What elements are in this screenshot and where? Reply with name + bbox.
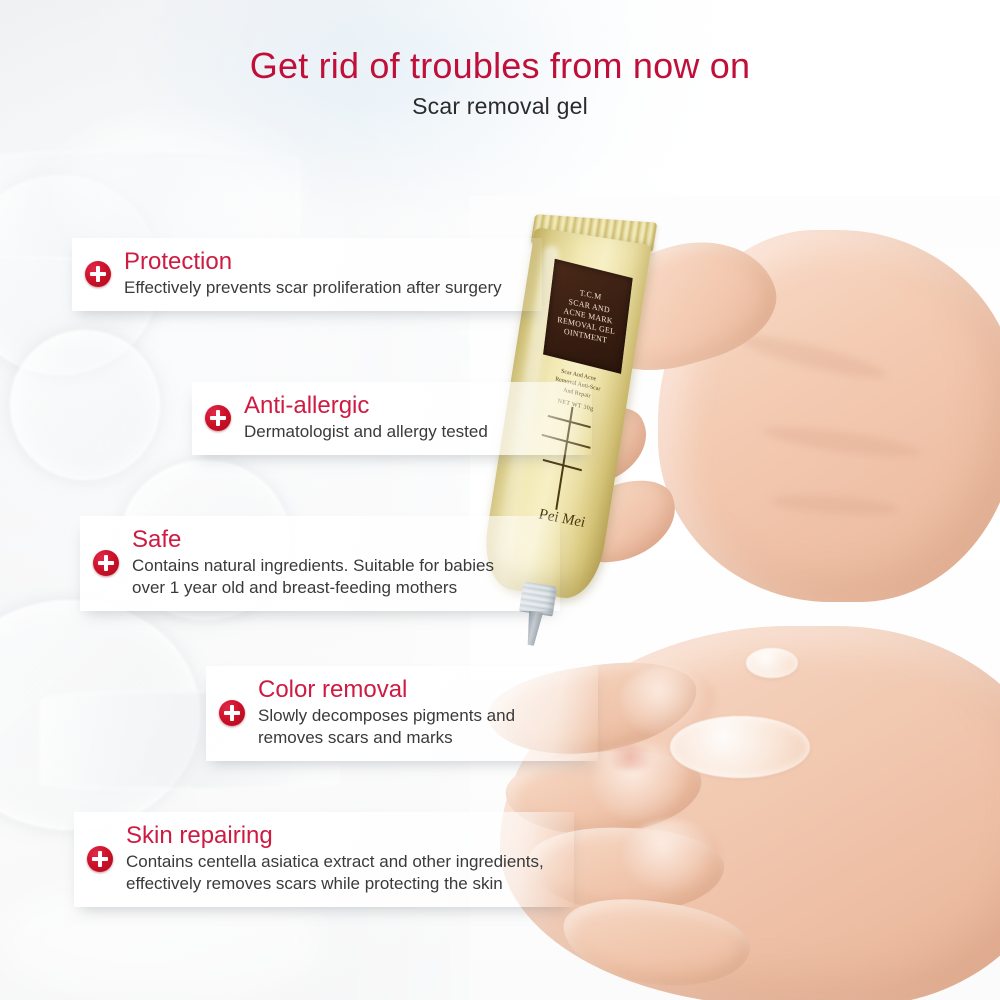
scar-mark-on-skin bbox=[602, 744, 658, 770]
red-plus-icon bbox=[93, 550, 119, 576]
page-headline: Get rid of troubles from now on bbox=[0, 46, 1000, 86]
red-plus-icon bbox=[87, 846, 113, 872]
feature-text: Color removal Slowly decomposes pigments… bbox=[258, 676, 598, 749]
feature-title: Skin repairing bbox=[126, 822, 564, 850]
feature-description: Dermatologist and allergy tested bbox=[244, 421, 582, 443]
feature-title: Color removal bbox=[258, 676, 588, 704]
feature-description: Contains centella asiatica extract and o… bbox=[126, 851, 564, 896]
feature-text: Protection Effectively prevents scar pro… bbox=[124, 248, 542, 299]
tube-front-label: T.C.M SCAR AND ACNE MARK REMOVAL GEL OIN… bbox=[543, 259, 633, 374]
feature-card-anti-allergic: Anti-allergic Dermatologist and allergy … bbox=[192, 382, 592, 455]
page-subheadline: Scar removal gel bbox=[0, 93, 1000, 120]
feature-title: Protection bbox=[124, 248, 532, 276]
red-plus-icon bbox=[219, 700, 245, 726]
feature-description: Contains natural ingredients. Suitable f… bbox=[132, 555, 550, 600]
red-plus-icon bbox=[85, 261, 111, 287]
feature-description: Slowly decomposes pigments and removes s… bbox=[258, 705, 588, 750]
feature-text: Safe Contains natural ingredients. Suita… bbox=[132, 526, 560, 599]
red-plus-icon bbox=[205, 405, 231, 431]
feature-text: Skin repairing Contains centella asiatic… bbox=[126, 822, 574, 895]
applied-gel-blob bbox=[746, 648, 798, 678]
feature-icon-wrap bbox=[206, 700, 258, 726]
feature-icon-wrap bbox=[192, 405, 244, 431]
feature-icon-wrap bbox=[80, 550, 132, 576]
feature-card-protection: Protection Effectively prevents scar pro… bbox=[72, 238, 542, 311]
feature-card-safe: Safe Contains natural ingredients. Suita… bbox=[80, 516, 560, 611]
feature-card-skin-repairing: Skin repairing Contains centella asiatic… bbox=[74, 812, 574, 907]
product-infographic-poster: T.C.M SCAR AND ACNE MARK REMOVAL GEL OIN… bbox=[0, 0, 1000, 1000]
feature-icon-wrap bbox=[72, 261, 124, 287]
knuckle-highlight bbox=[622, 820, 722, 890]
feature-description: Effectively prevents scar proliferation … bbox=[124, 277, 532, 299]
feature-title: Safe bbox=[132, 526, 550, 554]
feature-title: Anti-allergic bbox=[244, 392, 582, 420]
feature-icon-wrap bbox=[74, 846, 126, 872]
applied-gel-blob bbox=[670, 716, 810, 778]
feature-text: Anti-allergic Dermatologist and allergy … bbox=[244, 392, 592, 443]
feature-card-color-removal: Color removal Slowly decomposes pigments… bbox=[206, 666, 598, 761]
